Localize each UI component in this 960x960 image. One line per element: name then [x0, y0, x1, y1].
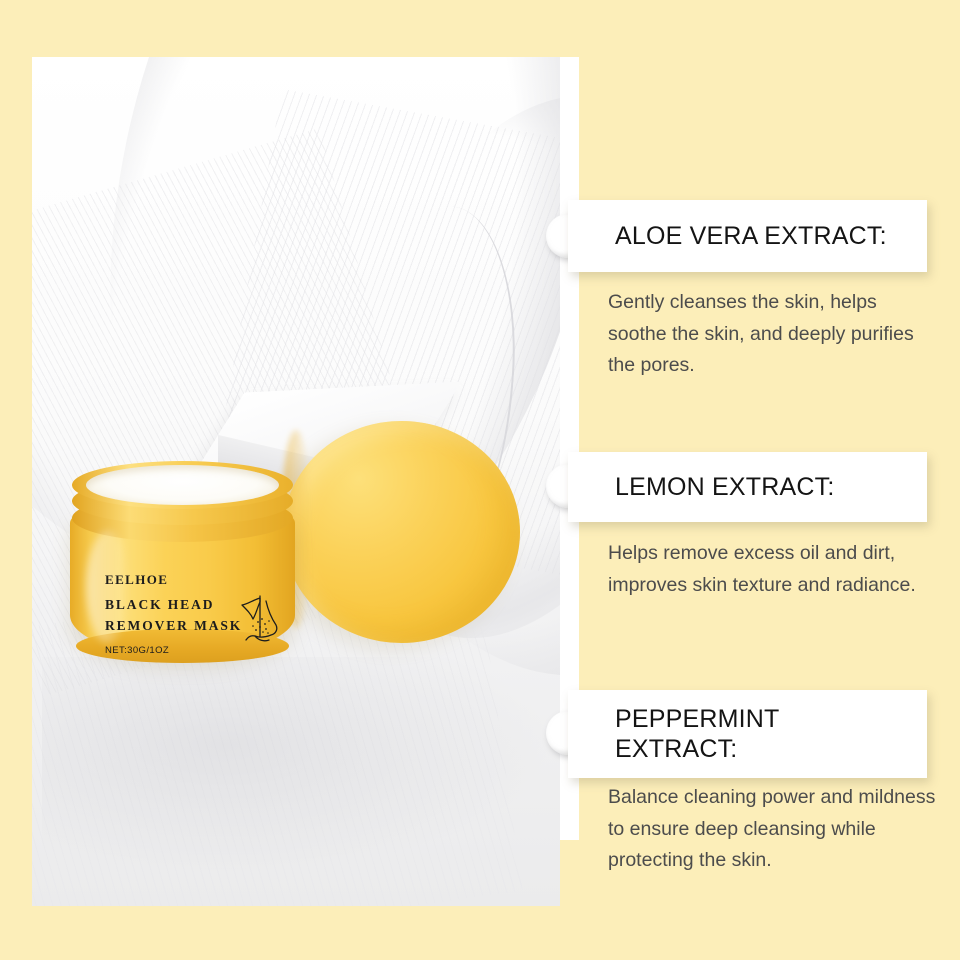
ingredient-description: Helps remove excess oil and dirt, improv…: [608, 538, 938, 601]
infographic-stage: EELHOE BLACK HEAD REMOVER MASK NET:30G/1…: [0, 0, 960, 960]
product-brand: EELHOE: [105, 572, 295, 588]
ingredient-heading-bar: LEMON EXTRACT:: [568, 452, 927, 522]
nose-pore-icon: [222, 592, 284, 652]
product-jar-lid: [283, 421, 520, 643]
ingredient-description: Gently cleanses the skin, helps soothe t…: [608, 287, 938, 382]
ingredient-heading-bar: PEPPERMINT EXTRACT:: [568, 690, 927, 778]
ingredient-heading-bar: ALOE VERA EXTRACT:: [568, 200, 927, 272]
jar-mouth-contents: [86, 465, 279, 505]
floor-shadow: [42, 657, 560, 877]
ingredient-description: Balance cleaning power and mildness to e…: [608, 782, 938, 877]
ingredient-title: PEPPERMINT EXTRACT:: [568, 704, 780, 765]
ingredient-title: LEMON EXTRACT:: [568, 472, 835, 503]
ingredient-title: ALOE VERA EXTRACT:: [568, 221, 887, 252]
